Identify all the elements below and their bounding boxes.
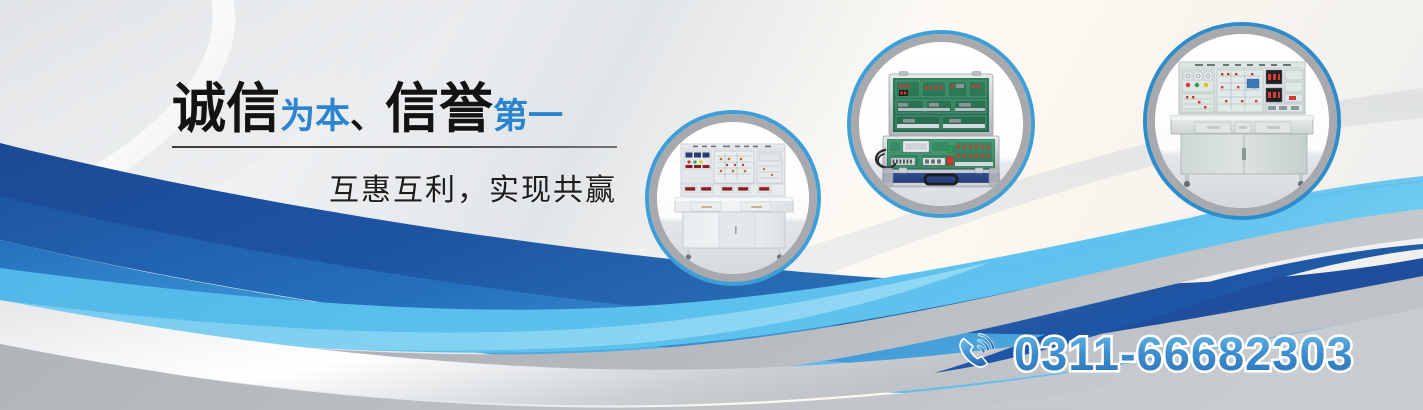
- headline-part1-small: 为本: [280, 99, 350, 134]
- product-photo-electrical-training-workbench[interactable]: [645, 110, 821, 286]
- product-image-training-case-2: [859, 42, 1023, 206]
- slogan-block: 诚信 为本 、 信誉 第一 互惠互利，实现共赢: [172, 74, 642, 209]
- headline-punctuation: 、: [350, 99, 385, 134]
- headline-part2-small: 第一: [493, 99, 563, 134]
- headline: 诚信 为本 、 信誉 第一: [172, 74, 642, 136]
- product-image-test-bench-3: [1155, 34, 1329, 208]
- product-photo-electrical-machine-test-bench[interactable]: [1143, 22, 1341, 220]
- circle-inner-ring-grey: [1147, 26, 1337, 216]
- phone-call-icon: [952, 330, 1000, 378]
- circle-inner-ring-grey: [649, 114, 817, 282]
- headline-part2-big: 信誉: [385, 82, 493, 136]
- contact-block[interactable]: 0311-66682303 0311-66682303: [952, 326, 1354, 381]
- slogan-divider: [172, 146, 617, 148]
- phone-number[interactable]: 0311-66682303: [1014, 327, 1354, 380]
- product-image-workbench-1: [657, 122, 809, 274]
- headline-part1-big: 诚信: [172, 82, 280, 136]
- circle-inner-ring-grey: [851, 34, 1031, 214]
- product-photo-portable-electronics-training-case[interactable]: [847, 30, 1035, 218]
- promotional-banner: 诚信 为本 、 信誉 第一 互惠互利，实现共赢: [0, 0, 1423, 410]
- subtitle: 互惠互利，实现共赢: [172, 148, 617, 209]
- phone-number-wrapper: 0311-66682303 0311-66682303: [1014, 326, 1354, 381]
